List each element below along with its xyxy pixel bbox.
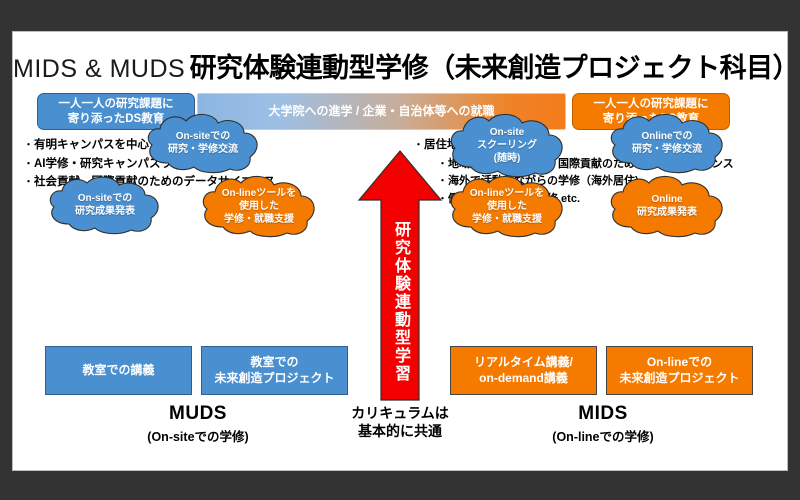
cloud-label: On-lineツールを 使用した 学修・就職支援 <box>441 173 573 239</box>
footer-right: MIDS (On-lineでの学修) <box>518 403 688 445</box>
cloud-online-tools-right: On-lineツールを 使用した 学修・就職支援 <box>441 173 573 239</box>
cloud-line: On-siteでの <box>168 130 238 143</box>
cloud-line: 研究成果発表 <box>637 206 697 219</box>
cloud-online-exchange: Onlineでの 研究・学修交流 <box>601 111 733 175</box>
cloud-line: 学修・就職支援 <box>222 213 296 226</box>
box-line: On-lineでの <box>619 355 739 371</box>
cloud-line: On-lineツールを <box>222 187 296 200</box>
box-classroom-project: 教室での 未来創造プロジェクト <box>201 346 348 395</box>
cloud-line: (随時) <box>477 152 537 165</box>
cloud-line: On-siteでの <box>75 192 135 205</box>
cloud-line: スクーリング <box>477 139 537 152</box>
cloud-line: 研究・学修交流 <box>168 143 238 156</box>
box-classroom-lecture: 教室での講義 <box>45 346 192 395</box>
bullet-marker-icon: ・ <box>23 175 34 190</box>
cloud-onsite-exchange: On-siteでの 研究・学修交流 <box>138 111 268 175</box>
box-line: リアルタイム講義/ <box>474 355 573 371</box>
box-realtime-lecture: リアルタイム講義/ on-demand講義 <box>450 346 597 395</box>
cloud-line: On-lineツールを <box>470 187 544 200</box>
cloud-line: 研究成果発表 <box>75 205 135 218</box>
banner-right-line1: 一人一人の研究課題に <box>594 97 709 111</box>
cloud-line: 使用した <box>470 200 544 213</box>
footer-right-subtitle: (On-lineでの学修) <box>518 426 688 445</box>
cloud-label: On-lineツールを 使用した 学修・就職支援 <box>193 173 325 239</box>
box-online-project: On-lineでの 未来創造プロジェクト <box>606 346 753 395</box>
box-line: 未来創造プロジェクト <box>619 371 739 387</box>
bullet-marker-icon: ・ <box>23 138 34 153</box>
footer-left-subtitle: (On-siteでの学修) <box>113 426 283 445</box>
cloud-line: On-site <box>477 126 537 139</box>
box-line: 教室での <box>214 355 334 371</box>
footer-right-title: MIDS <box>518 403 688 425</box>
title-japanese: 研究体験連動型学修（未来創造プロジェクト科目） <box>190 53 800 83</box>
box-line: 教室での講義 <box>82 363 154 379</box>
cloud-line: 使用した <box>222 200 296 213</box>
cloud-label: On-siteでの 研究成果発表 <box>41 174 169 236</box>
slide-canvas: MIDS & MUDS 研究体験連動型学修（未来創造プロジェクト科目） 一人一人… <box>13 32 787 470</box>
cloud-line: Onlineでの <box>632 130 702 143</box>
cloud-label: On-siteでの 研究・学修交流 <box>138 111 268 175</box>
footer-left: MUDS (On-siteでの学修) <box>113 403 283 445</box>
footer-left-title: MUDS <box>113 403 283 425</box>
footer-center-line2: 基本的に共通 <box>318 422 482 440</box>
up-arrow-icon: 研究体験連動型学習 <box>357 149 443 402</box>
arrow-label: 研究体験連動型学習 <box>357 149 443 402</box>
cloud-online-results: Online 研究成果発表 <box>601 173 733 239</box>
title-english: MIDS & MUDS <box>13 55 185 83</box>
box-line: on-demand講義 <box>474 371 573 387</box>
box-line: 未来創造プロジェクト <box>214 371 334 387</box>
bullet-marker-icon: ・ <box>23 157 34 172</box>
page-title: MIDS & MUDS 研究体験連動型学修（未来創造プロジェクト科目） <box>13 46 787 85</box>
banner-left-line1: 一人一人の研究課題に <box>59 97 174 111</box>
cloud-online-tools-left: On-lineツールを 使用した 学修・就職支援 <box>193 173 325 239</box>
cloud-onsite-results: On-siteでの 研究成果発表 <box>41 174 169 236</box>
footer-center: カリキュラムは 基本的に共通 <box>318 404 482 440</box>
cloud-label: On-site スクーリング (随時) <box>441 111 573 179</box>
cloud-line: 学修・就職支援 <box>470 213 544 226</box>
cloud-label: Onlineでの 研究・学修交流 <box>601 111 733 175</box>
cloud-onsite-schooling: On-site スクーリング (随時) <box>441 111 573 179</box>
cloud-line: 研究・学修交流 <box>632 143 702 156</box>
cloud-label: Online 研究成果発表 <box>601 173 733 239</box>
footer-center-line1: カリキュラムは <box>318 404 482 422</box>
cloud-line: Online <box>637 193 697 206</box>
